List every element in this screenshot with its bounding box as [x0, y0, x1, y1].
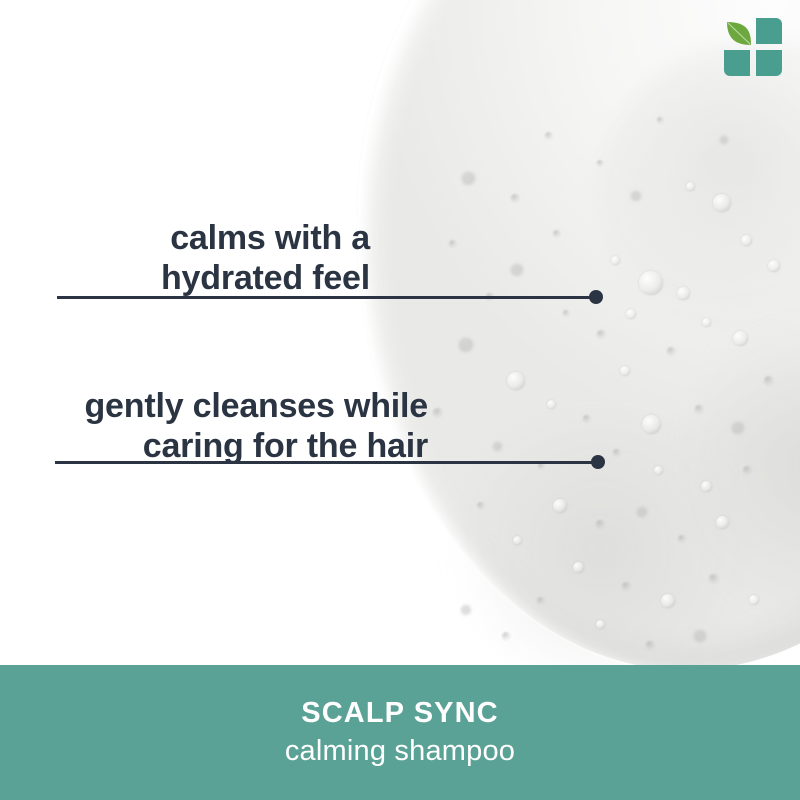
gel-bubble [768, 260, 780, 272]
gel-bubble [678, 535, 685, 542]
gel-bubble [563, 310, 569, 316]
gel-bubble [622, 582, 630, 590]
gel-bubble [637, 507, 647, 517]
gel-bubble [597, 330, 605, 338]
gel-bubble [654, 466, 663, 475]
gel-bubble [749, 595, 759, 605]
gel-bubble [502, 632, 510, 640]
gel-bubble [511, 264, 523, 276]
gel-bubble [661, 594, 675, 608]
gel-bubble [694, 630, 706, 642]
gel-bubble [764, 376, 773, 385]
gel-bubble [646, 641, 654, 649]
gel-bubble [631, 191, 641, 201]
leaf-quadrant-logo-icon [722, 16, 784, 78]
gel-bubble [709, 574, 718, 583]
gel-bubble [611, 256, 620, 265]
product-name: SCALP SYNC [301, 696, 498, 730]
gel-bubble [701, 481, 712, 492]
gel-bubble [553, 230, 560, 237]
gel-bubble [545, 132, 552, 139]
gel-bubble [702, 318, 711, 327]
gel-bubble [686, 182, 695, 191]
callout-label-2: gently cleanses while caring for the hai… [20, 386, 428, 466]
gel-bubble [597, 160, 603, 166]
callout-leader-line-2 [55, 461, 598, 464]
gel-bubble [507, 372, 525, 390]
gel-bubble [639, 271, 663, 295]
product-subtitle: calming shampoo [285, 732, 515, 770]
gel-bubble [596, 520, 604, 528]
callout-leader-line-1 [57, 296, 596, 299]
gel-bubble [433, 408, 442, 417]
gel-bubble [553, 499, 567, 513]
gel-bubble [462, 172, 475, 185]
gel-bubble [667, 347, 675, 355]
callout-label-1: calms with a hydrated feel [20, 218, 370, 298]
gel-bubble [511, 194, 519, 202]
gel-bubble [573, 562, 584, 573]
gel-bubble [547, 400, 556, 409]
gel-bubble [720, 136, 728, 144]
gel-bubble [657, 117, 663, 123]
gel-bubble [613, 449, 620, 456]
gel-bubble [732, 422, 744, 434]
gel-bubble [626, 309, 636, 319]
product-marketing-card: calms with a hydrated feel gently cleans… [0, 0, 800, 800]
gel-bubble [459, 338, 473, 352]
callout-leader-dot-1 [589, 290, 603, 304]
gel-bubble [477, 502, 484, 509]
gel-bubble [716, 516, 729, 529]
gel-bubble [596, 620, 605, 629]
gel-bubble [461, 605, 471, 615]
gel-bubble [620, 366, 630, 376]
gel-bubble [743, 466, 751, 474]
product-banner: SCALP SYNC calming shampoo [0, 665, 800, 800]
gel-bubble [713, 194, 731, 212]
gel-bubble [733, 331, 748, 346]
gel-bubble [449, 240, 456, 247]
gel-bubble [642, 415, 661, 434]
callout-leader-dot-2 [591, 455, 605, 469]
gel-bubble [741, 235, 752, 246]
gel-bubble [583, 415, 590, 422]
gel-bubble [493, 442, 502, 451]
gel-bubble [537, 597, 544, 604]
gel-bubble [513, 536, 522, 545]
gel-bubble [695, 405, 703, 413]
gel-bubble [677, 287, 690, 300]
